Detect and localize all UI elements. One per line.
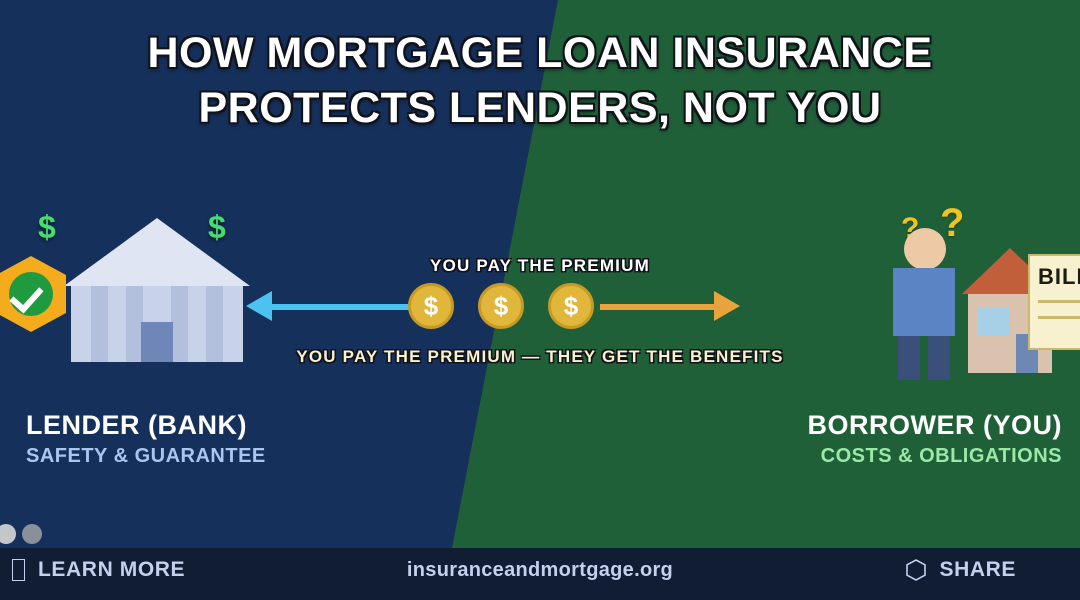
share-button[interactable]: SHARE [906,558,1016,582]
borrower-title: BORROWER (YOU) [808,410,1062,441]
house-window [978,308,1010,336]
coin-icon-2: $ [478,283,524,329]
page-title: HOW MORTGAGE LOAN INSURANCE PROTECTS LEN… [0,26,1080,136]
infographic-canvas: HOW MORTGAGE LOAN INSURANCE PROTECTS LEN… [0,0,1080,600]
bill-line [1038,316,1080,319]
arrow-shaft [600,304,714,310]
borrower-person-illustration [893,228,955,380]
person-leg-left [898,336,920,380]
bill-document-icon: BILL [1028,254,1080,350]
payment-arrow-to-borrower-icon [600,302,740,311]
lender-title: LENDER (BANK) [26,410,266,441]
benefits-arrow-to-lender-icon [246,302,416,311]
person-leg-right [928,336,950,380]
borrower-subtitle: COSTS & OBLIGATIONS [808,443,1062,469]
person-head [904,228,946,270]
share-label: SHARE [939,558,1016,582]
arrow-shaft [268,304,416,310]
page-dot-inactive[interactable] [22,524,42,544]
lender-label-group: LENDER (BANK) SAFETY & GUARANTEE [26,410,266,469]
bank-building-illustration [64,218,250,362]
share-hexagon-icon [906,559,926,581]
coin-icon-1: $ [408,283,454,329]
bill-line [1038,300,1080,303]
dollar-sign-icon-left: $ [38,209,56,246]
lender-subtitle: SAFETY & GUARANTEE [26,443,266,469]
arrow-head [714,291,740,321]
bill-label: BILL [1038,264,1080,290]
borrower-label-group: BORROWER (YOU) COSTS & OBLIGATIONS [808,410,1062,469]
coin-icon-3: $ [548,283,594,329]
person-torso [893,268,955,336]
arrow-head [246,291,272,321]
